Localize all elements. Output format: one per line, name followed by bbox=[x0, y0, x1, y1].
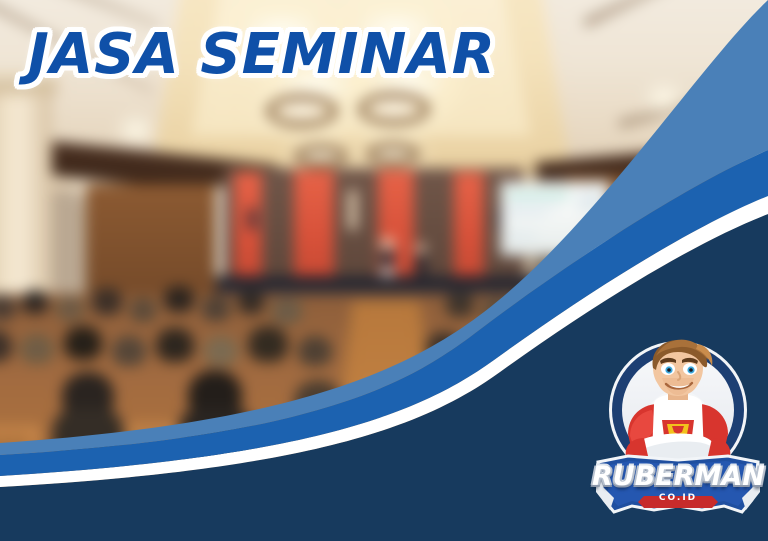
recessed-spotlight bbox=[656, 94, 672, 103]
audience-head bbox=[0, 294, 16, 320]
stage-red-panel bbox=[454, 172, 484, 282]
audience-head bbox=[202, 296, 230, 321]
audience-head bbox=[426, 332, 462, 364]
audience-head bbox=[112, 336, 146, 366]
audience-chair bbox=[260, 422, 316, 470]
audience-head bbox=[238, 290, 264, 314]
audience-torso bbox=[52, 408, 124, 468]
chair-slat bbox=[2, 432, 5, 466]
wall-speaker-box bbox=[248, 208, 256, 230]
audience-head bbox=[22, 290, 48, 314]
chair-slat bbox=[290, 428, 293, 466]
audience-head bbox=[554, 296, 584, 322]
ring-light-fixture bbox=[358, 92, 430, 126]
audience-head bbox=[472, 328, 510, 362]
audience-chair bbox=[398, 426, 450, 470]
audience-head bbox=[520, 336, 554, 366]
chair-slat bbox=[280, 428, 283, 466]
audience-head bbox=[628, 298, 658, 324]
audience-head bbox=[520, 288, 546, 312]
audience-head bbox=[592, 290, 620, 315]
audience-chair bbox=[126, 424, 180, 470]
chair-slat bbox=[136, 430, 139, 466]
page-title: JASA SEMINAR bbox=[28, 27, 496, 83]
audience-head bbox=[20, 334, 54, 364]
audience-head bbox=[294, 380, 342, 424]
stage-red-panel bbox=[294, 170, 334, 284]
audience-head bbox=[0, 330, 12, 362]
chair-slat bbox=[418, 432, 421, 466]
audience-head bbox=[130, 298, 156, 322]
audience-head bbox=[164, 286, 194, 312]
audience-head bbox=[92, 288, 122, 315]
logo-brand-text: RUBERMAN bbox=[592, 463, 764, 490]
chair-slat bbox=[146, 430, 149, 466]
audience-head bbox=[298, 336, 332, 366]
chair-slat bbox=[166, 430, 169, 466]
projection-screen-content bbox=[506, 212, 546, 215]
audience-torso bbox=[176, 408, 256, 470]
chair-slat bbox=[300, 428, 303, 466]
projection-screen-content bbox=[584, 228, 600, 240]
chair-slat bbox=[156, 430, 159, 466]
recessed-spotlight bbox=[128, 126, 144, 135]
audience-head bbox=[156, 328, 194, 362]
audience-head bbox=[446, 292, 474, 317]
brand-logo[interactable]: RUBERMAN CO.ID bbox=[592, 338, 764, 526]
audience-head bbox=[64, 326, 102, 360]
logo-domain-text: CO.ID bbox=[592, 494, 764, 503]
projection-screen-content bbox=[506, 204, 560, 207]
projection-screen-content bbox=[506, 234, 536, 237]
audience-head bbox=[272, 298, 302, 324]
projection-screen-content bbox=[506, 192, 570, 197]
audience-head bbox=[248, 326, 288, 362]
chair-slat bbox=[270, 428, 273, 466]
ring-light-fixture bbox=[366, 142, 420, 166]
chair-slat bbox=[408, 432, 411, 466]
chair-slat bbox=[428, 432, 431, 466]
audience-head bbox=[666, 292, 694, 317]
audience-torso bbox=[516, 412, 602, 472]
audience-head bbox=[56, 296, 84, 321]
audience-head bbox=[482, 298, 512, 324]
audience-chair bbox=[0, 426, 40, 470]
ring-light-fixture bbox=[294, 144, 348, 168]
recessed-spotlight bbox=[694, 128, 710, 137]
seminar-promo-banner: JASA SEMINAR bbox=[0, 0, 768, 541]
stage-accent-light bbox=[348, 190, 357, 230]
chair-slat bbox=[22, 432, 25, 466]
chair-slat bbox=[12, 432, 15, 466]
projection-screen-content bbox=[578, 190, 604, 212]
audience-head bbox=[204, 336, 238, 366]
ring-light-fixture bbox=[266, 94, 338, 128]
